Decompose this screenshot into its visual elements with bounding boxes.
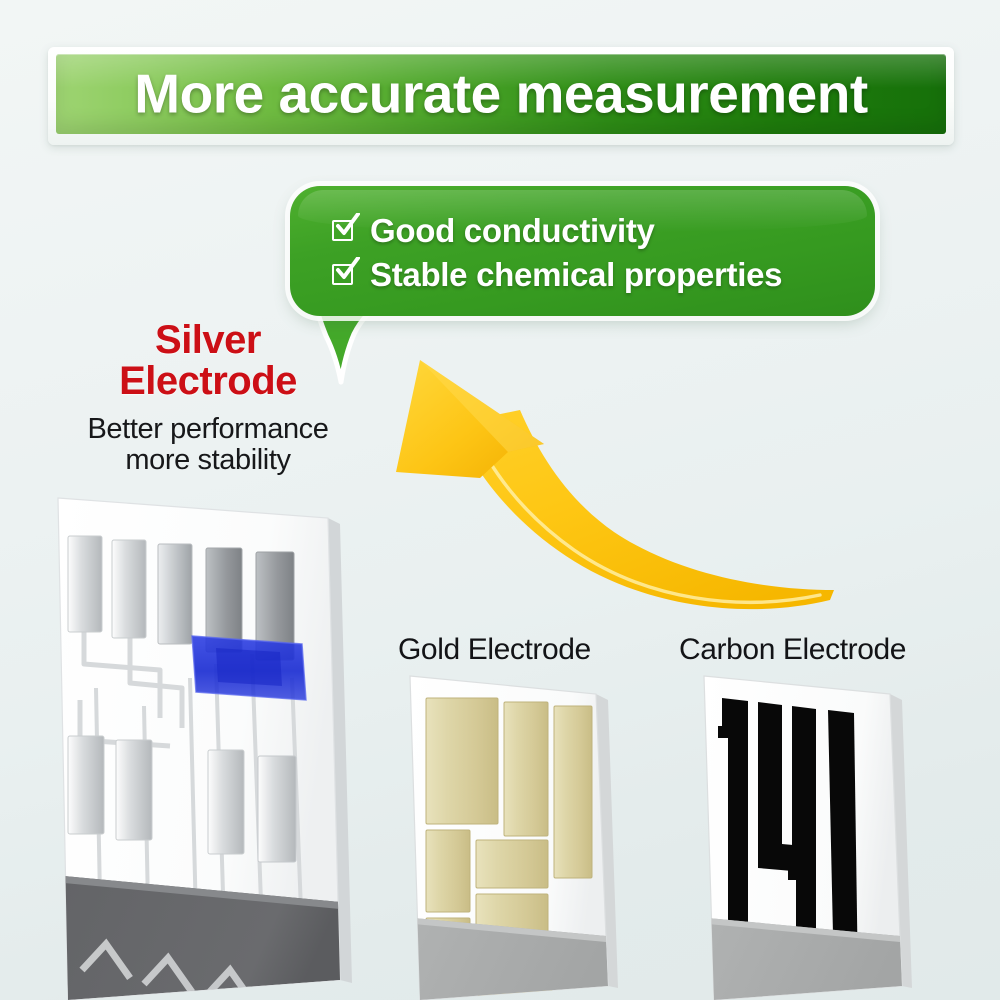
- silver-electrode-label-block: Silver Electrode Better performance more…: [58, 320, 358, 477]
- silver-electrode-strip: [40, 478, 360, 1000]
- benefit-item-0: Good conductivity: [332, 208, 861, 252]
- gold-electrode-label: Gold Electrode: [398, 633, 591, 667]
- silver-subtitle-line2: more stability: [58, 445, 358, 477]
- checkbox-checked-icon: [332, 262, 357, 287]
- benefits-list: Good conductivity Stable chemical proper…: [332, 208, 861, 296]
- carbon-electrode-strip: [692, 668, 932, 1000]
- benefits-speech-bubble: Good conductivity Stable chemical proper…: [290, 186, 875, 316]
- silver-subtitle-line1: Better performance: [58, 414, 358, 446]
- benefit-label: Stable chemical properties: [370, 258, 782, 291]
- checkbox-checked-icon: [332, 218, 357, 243]
- blue-highlight-region: [192, 636, 306, 700]
- gold-electrode-strip: [398, 668, 638, 1000]
- silver-title-line2: Electrode: [58, 361, 358, 402]
- infographic-canvas: More accurate measurement Good conductiv…: [0, 0, 1000, 1000]
- header-title: More accurate measurement: [56, 67, 946, 122]
- carbon-electrode-label: Carbon Electrode: [679, 633, 906, 667]
- silver-electrode-title: Silver Electrode: [58, 320, 358, 402]
- silver-electrode-subtitle: Better performance more stability: [58, 414, 358, 478]
- curved-up-left-arrow-icon: [368, 352, 838, 642]
- benefit-label: Good conductivity: [370, 214, 655, 247]
- silver-title-line1: Silver: [58, 320, 358, 361]
- header-banner-frame: More accurate measurement: [48, 47, 954, 145]
- header-banner: More accurate measurement: [56, 54, 946, 134]
- benefit-item-1: Stable chemical properties: [332, 252, 861, 296]
